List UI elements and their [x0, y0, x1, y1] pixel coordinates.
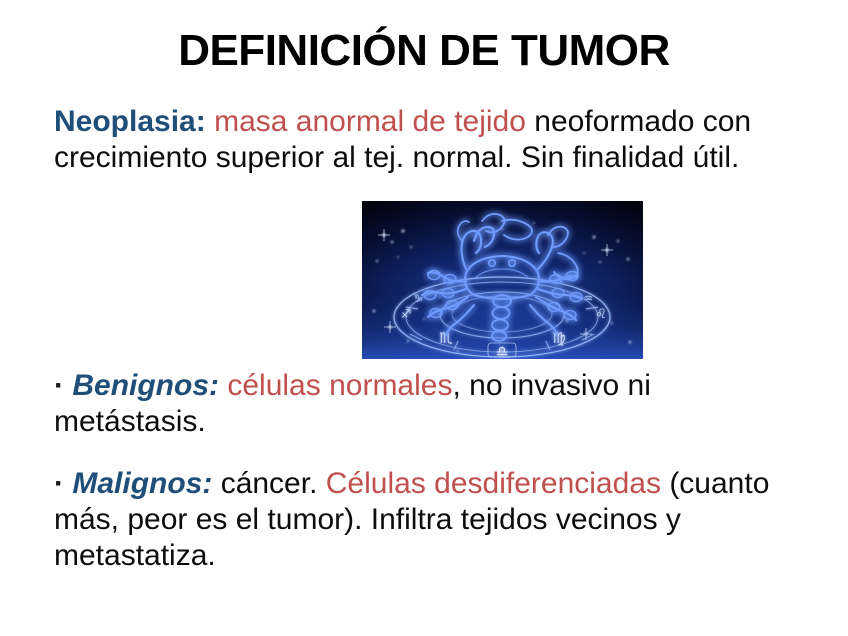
term-neoplasia-colon: :: [196, 105, 206, 138]
svg-text:♒: ♒: [583, 292, 593, 305]
term-neoplasia: Neoplasia: [54, 105, 196, 138]
bullet-icon: ·: [54, 467, 64, 500]
malignos-lead-text: cáncer.: [221, 467, 318, 500]
svg-text:♑: ♑: [413, 292, 423, 305]
svg-text:♌: ♌: [595, 307, 607, 322]
highlight-celulas-normales: células normales: [227, 369, 452, 402]
bullet-icon: ·: [54, 369, 64, 402]
term-benignos: Benignos:: [72, 369, 219, 402]
zodiac-cancer-illustration: ♏ ♎ ♍ ♌ ♐ ♑ ♒: [362, 201, 643, 359]
term-malignos: Malignos:: [72, 467, 212, 500]
svg-text:♐: ♐: [401, 307, 412, 321]
highlight-celulas-desdiferenciadas: Células desdiferenciadas: [326, 467, 661, 500]
zodiac-cancer-image: ♏ ♎ ♍ ♌ ♐ ♑ ♒: [362, 201, 643, 359]
svg-text:♍: ♍: [552, 329, 565, 347]
paragraph-benignos: · Benignos: células normales, no invasiv…: [54, 368, 754, 440]
svg-text:♏: ♏: [439, 329, 453, 347]
highlight-masa-anormal: masa anormal de tejido: [214, 105, 526, 138]
page-title: DEFINICIÓN DE TUMOR: [0, 26, 848, 77]
slide-canvas: DEFINICIÓN DE TUMOR Neoplasia: masa anor…: [0, 0, 848, 636]
paragraph-neoplasia: Neoplasia: masa anormal de tejido neofor…: [54, 104, 814, 176]
paragraph-malignos: · Malignos: cáncer. Células desdiferenci…: [54, 466, 794, 574]
